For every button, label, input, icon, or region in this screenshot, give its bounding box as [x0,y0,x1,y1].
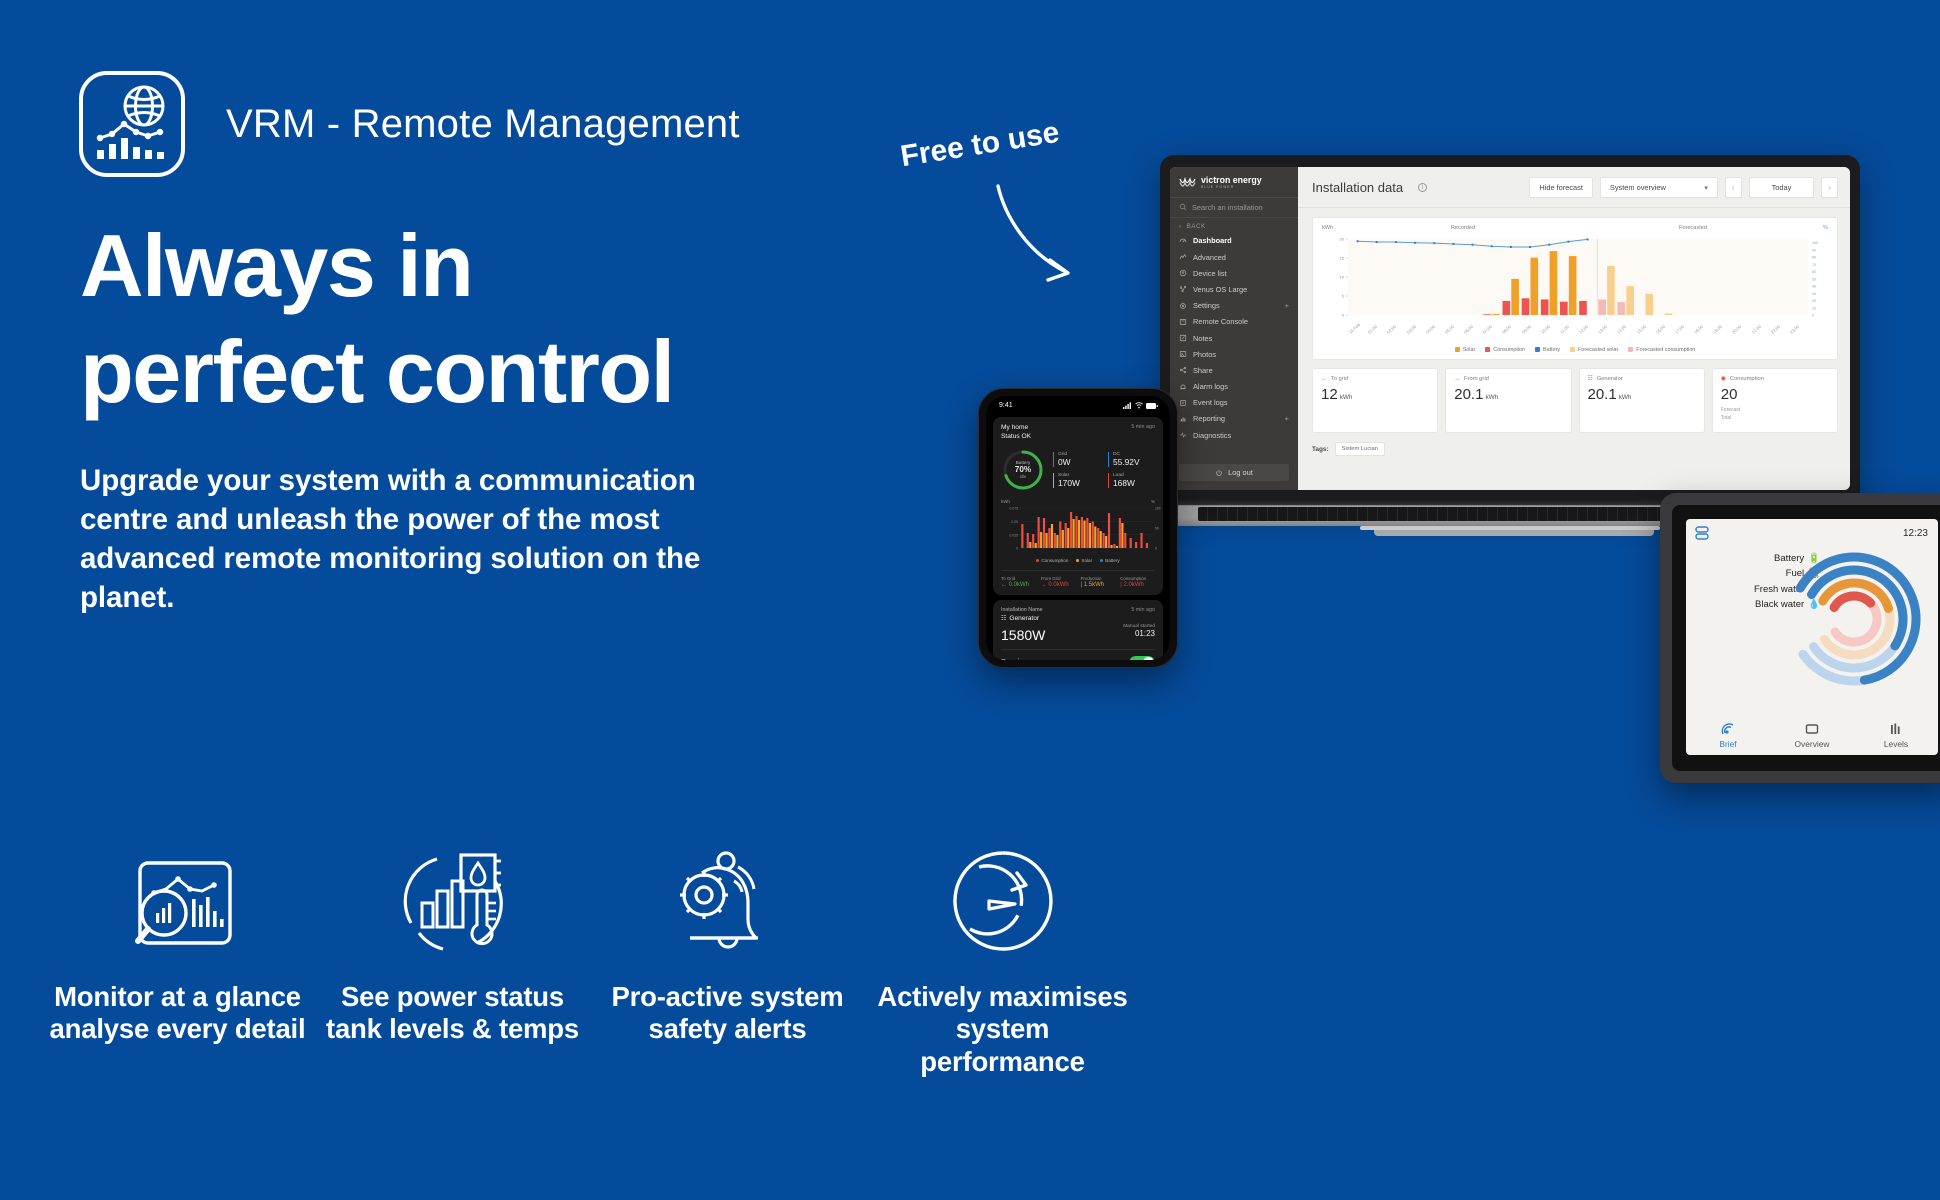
search-placeholder: Search an installation [1192,203,1263,212]
consumption-icon: ◉ [1721,376,1726,382]
kpi-value: 0W [1058,457,1100,467]
signal-icon [1123,402,1132,409]
tablet-bezel: 12:23 Battery🔋 Fuel⛽ Fresh water💧 Black … [1672,505,1940,771]
installation-name-label: Installation Name [1001,607,1043,614]
generator-icon: ☷ [1001,615,1006,623]
total-key: To Grid [1001,576,1036,581]
notes-icon [1179,334,1187,342]
feature-list: Monitor at a glance analyse every detail [40,845,1140,1078]
sidebar-item-dashboard[interactable]: Dashboard [1170,233,1298,249]
victron-logo-sub: BLUE POWER [1201,185,1262,189]
system-overview-value: System overview [1610,183,1666,192]
sidebar-label: Settings [1193,301,1220,310]
total-key: Production [1081,576,1116,581]
today-button[interactable]: Today [1749,177,1815,198]
brief-icon [1686,721,1770,737]
svg-text:100: 100 [1812,241,1818,245]
logout-button[interactable]: Log out [1179,464,1289,481]
alarm-icon [1179,383,1187,391]
chart-x-axis-labels: 16 Feb01:0002:0003:0004:0005:0006:0007:0… [1348,331,1808,336]
tab-label: Brief [1719,739,1736,749]
tank-thermometer-icon [321,845,584,965]
tablet-screen: 12:23 Battery🔋 Fuel⛽ Fresh water💧 Black … [1686,519,1938,755]
feature-label: Monitor at a glance analyse every detail [46,981,309,1046]
vrm-toolbar: Installation data i Hide forecast System… [1298,167,1850,208]
toggle-knob [1143,657,1154,660]
chevron-left-icon: ‹ [1179,224,1182,230]
remote-console-icon [1179,318,1187,326]
sidebar-label: Device list [1193,269,1227,278]
svg-text:20: 20 [1812,299,1816,303]
svg-text:30: 30 [1812,292,1816,296]
chevron-down-icon: ▾ [1704,184,1708,192]
sidebar-item-reporting[interactable]: Reporting + [1170,411,1298,427]
device-mockups: victron energy BLUE POWER Search an inst… [0,0,1940,840]
kpi-dc: DC 55.92V [1108,452,1155,467]
vrm-main-panel: Installation data i Hide forecast System… [1298,167,1850,490]
feature-safety-alerts: Pro-active system safety alerts [590,845,865,1078]
battery-ring-gauge: Battery 70% Idle [1001,448,1045,492]
svg-text:15: 15 [1340,256,1345,261]
logout-label: Log out [1228,468,1253,477]
svg-text:0.075: 0.075 [1010,506,1019,510]
tablet-time: 12:23 [1903,528,1928,539]
legend-item: Forecasted consumption [1628,347,1695,353]
sidebar-label: Notes [1193,334,1212,343]
svg-text:0.05: 0.05 [1011,520,1018,524]
svg-text:70: 70 [1812,263,1816,267]
tab-brief[interactable]: Brief [1686,721,1770,749]
installation-data-title: Installation data [1312,180,1403,195]
card-title: Generator [1597,376,1623,382]
sidebar-label: Event logs [1193,398,1228,407]
victron-mark-icon [1179,177,1197,188]
feature-label: Actively maximises system performance [871,981,1134,1078]
levels-icon [1854,721,1938,737]
arrow-right-icon: → [1454,376,1460,382]
tablet-mockup: 12:23 Battery🔋 Fuel⛽ Fresh water💧 Black … [1660,493,1940,783]
power-icon [1215,469,1223,477]
svg-text:0.025: 0.025 [1010,533,1019,537]
sidebar-item-settings[interactable]: Settings + [1170,298,1298,314]
sidebar-label: Share [1193,366,1213,375]
ring-state: Idle [1020,474,1027,479]
kpi-grid: Grid 0W [1053,452,1100,467]
sidebar-item-advanced[interactable]: Advanced [1170,249,1298,265]
svg-text:10: 10 [1340,275,1345,280]
svg-text:80: 80 [1812,256,1816,260]
kpi-solar: Solar 170W [1053,473,1100,488]
svg-text:5: 5 [1342,294,1345,299]
total-value: → 0.0kWh [1041,582,1076,588]
generator-power: 1580W [1001,627,1045,643]
sidebar-expand-icon[interactable]: + [1285,301,1289,310]
sidebar-item-share[interactable]: Share [1170,362,1298,378]
gear-icon [1179,302,1187,310]
tanks-icon [1695,525,1709,541]
tab-levels[interactable]: Levels [1854,721,1938,749]
info-icon[interactable]: i [1418,183,1427,192]
back-label: BACK [1187,224,1206,230]
search-installation-input[interactable]: Search an installation [1170,197,1298,218]
manual-started-time: 01:23 [1123,629,1155,638]
legend-item: Forecasted solar [1570,347,1618,353]
installation-chart-card: kWh Recorded Forecasted % 05101520010203… [1312,217,1838,360]
tablet-levels-gauge: Battery🔋 Fuel⛽ Fresh water💧 Black water💧 [1686,541,1938,691]
my-home-card: My home Status OK 5 min ago Battery 70% [993,417,1163,595]
battery-icon [1146,403,1158,409]
svg-text:40: 40 [1812,285,1816,289]
legend-item: Battery [1535,347,1560,353]
total-from-grid: From Grid→ 0.0kWh [1041,576,1076,588]
summary-cards: ← To grid 12kWh → From grid 20.1kWh ☷ Ge… [1312,368,1838,433]
card-value: 12 [1321,386,1338,403]
card-unit: kWh [1619,394,1632,401]
total-value: ← 0.0kWh [1001,582,1036,588]
card-value: 20.1 [1454,386,1483,403]
phone-screen: 9:41 My home Status OK 5 min ago [986,396,1170,660]
total-key: From Grid [1041,576,1076,581]
sidebar-expand-icon[interactable]: + [1285,414,1289,423]
sidebar-item-event-logs[interactable]: Event logs [1170,395,1298,411]
laptop-lid-notch [1360,526,1660,530]
feature-maximises-performance: Actively maximises system performance [865,845,1140,1078]
card-sub-forecast: Forecast [1721,407,1829,415]
generator-state-label: Running [1001,659,1027,660]
phone-mockup: 9:41 My home Status OK 5 min ago [978,388,1178,668]
svg-text:50: 50 [1155,526,1159,530]
phone-totals: To Grid← 0.0kWh From Grid→ 0.0kWh Produc… [1001,570,1155,588]
sidebar-label: Diagnostics [1193,431,1231,440]
total-value: | 2.0kWh [1120,582,1155,588]
legend-item: Solar [1455,347,1476,353]
sidebar-item-remote-console[interactable]: Remote Console [1170,314,1298,330]
victron-logo-text: victron energy [1201,176,1262,185]
legend-item: Consumption [1485,347,1525,353]
phone-legend-item: Consumption [1036,558,1068,563]
bell-gear-icon [596,845,859,965]
vrm-sidebar: victron energy BLUE POWER Search an inst… [1170,167,1298,490]
event-icon [1179,399,1187,407]
feature-label: Pro-active system safety alerts [596,981,859,1046]
status-time: 9:41 [999,402,1013,409]
home-updated-ago: 5 min ago [1131,424,1155,430]
phone-bar-chart: kWh % 0.0750.050.0250100500 ConsumptionS… [1001,499,1155,563]
svg-text:60: 60 [1812,270,1816,274]
victron-logo: victron energy BLUE POWER [1170,167,1298,197]
laptop-camera-notch [1467,155,1553,167]
analytics-magnifier-icon [46,845,309,965]
prev-day-button[interactable]: ‹ [1725,177,1742,198]
generator-card: Installation Name ☷ Generator 5 min ago … [993,600,1163,660]
svg-text:0: 0 [1812,314,1814,318]
card-title: From grid [1464,376,1489,382]
svg-text:0: 0 [1155,546,1157,550]
tags-label: Tags: [1312,446,1329,453]
advanced-icon [1179,253,1187,261]
tab-label: Overview [1795,739,1830,749]
sidebar-item-venus-os-large[interactable]: Venus OS Large [1170,281,1298,297]
arrow-left-icon: ← [1321,376,1327,382]
chart-legend: SolarConsumptionBatteryForecasted solarF… [1322,347,1828,353]
chart-unit-left: kWh [1322,225,1348,231]
phone-legend-item: Battery [1100,558,1120,563]
svg-text:0: 0 [1016,546,1018,550]
share-icon [1179,366,1187,374]
search-icon [1179,203,1187,211]
svg-text:50: 50 [1812,277,1816,281]
card-unit: kWh [1485,394,1498,401]
next-day-button[interactable]: › [1821,177,1838,198]
generator-name: Generator [1009,615,1039,624]
card-from-grid: → From grid 20.1kWh [1445,368,1571,433]
overview-icon [1770,721,1854,737]
svg-text:90: 90 [1812,248,1816,252]
home-status: Status OK [1001,433,1031,442]
device-list-icon [1179,269,1187,277]
photos-icon [1179,350,1187,358]
chart-recorded-label: Recorded [1348,225,1578,231]
sidebar-label: Dashboard [1193,236,1232,245]
total-consumption: Consumption| 2.0kWh [1120,576,1155,588]
sidebar-item-notes[interactable]: Notes [1170,330,1298,346]
sidebar-label: Advanced [1193,253,1226,262]
sidebar-item-alarm-logs[interactable]: Alarm logs [1170,378,1298,394]
phone-legend-item: Solar [1076,558,1092,563]
card-generator: ☷ Generator 20.1kWh [1579,368,1705,433]
sidebar-item-diagnostics[interactable]: Diagnostics [1170,427,1298,443]
hide-forecast-button[interactable]: Hide forecast [1529,177,1593,198]
total-to-grid: To Grid← 0.0kWh [1001,576,1036,588]
card-value: 20.1 [1588,386,1617,403]
system-overview-select[interactable]: System overview ▾ [1600,177,1718,198]
total-production: Production| 1.5kWh [1081,576,1116,588]
svg-text:100: 100 [1155,506,1161,510]
card-consumption: ◉ Consumption 20 Forecast Total [1712,368,1838,433]
total-value: | 1.5kWh [1081,582,1116,588]
sidebar-label: Photos [1193,350,1216,359]
feature-monitor-at-a-glance: Monitor at a glance analyse every detail [40,845,315,1078]
svg-text:10: 10 [1812,306,1816,310]
sidebar-label: Venus OS Large [1193,285,1247,294]
diagnostics-icon [1179,431,1187,439]
tablet-bottom-nav: Brief Overview Levels [1686,721,1938,749]
phone-chart-unit-right: % [1151,499,1155,504]
sidebar-label: Remote Console [1193,317,1248,326]
card-sub-total: Total [1721,415,1829,423]
reporting-icon [1179,415,1187,423]
svg-text:20: 20 [1340,237,1345,242]
kpi-value: 170W [1058,478,1100,488]
vrm-dashboard-screen: victron energy BLUE POWER Search an inst… [1170,167,1850,490]
sidebar-label: Alarm logs [1193,382,1228,391]
sidebar-item-photos[interactable]: Photos [1170,346,1298,362]
card-title: To grid [1331,376,1348,382]
tag-chip[interactable]: Sistem Lucian [1335,442,1385,456]
sidebar-back-link[interactable]: ‹ BACK [1170,218,1298,233]
tab-overview[interactable]: Overview [1770,721,1854,749]
kpi-load: Load 168W [1108,473,1155,488]
feature-power-status: See power status tank levels & temps [315,845,590,1078]
chart-header: kWh Recorded Forecasted % [1322,225,1828,231]
card-to-grid: ← To grid 12kWh [1312,368,1438,433]
tablet-status-bar: 12:23 [1686,519,1938,541]
tab-label: Levels [1884,739,1908,749]
chart-unit-right: % [1808,225,1828,231]
phone-notch [1046,400,1110,412]
card-value: 20 [1721,386,1738,403]
generator-updated-ago: 5 min ago [1131,607,1155,613]
generator-icon: ☷ [1588,376,1593,382]
sidebar-item-device-list[interactable]: Device list [1170,265,1298,281]
kpi-value: 168W [1113,478,1155,488]
card-title: Consumption [1730,376,1764,382]
card-unit: kWh [1340,394,1353,401]
wifi-icon [1135,402,1143,409]
total-key: Consumption [1120,576,1155,581]
generator-toggle[interactable] [1129,656,1155,660]
chart-forecasted-label: Forecasted [1578,225,1808,231]
installation-chart-plot: 051015200102030405060708090100 [1322,233,1828,329]
tags-row: Tags: Sistem Lucian [1312,442,1838,456]
home-title: My home [1001,424,1031,433]
gauge-refresh-icon [871,845,1134,965]
sidebar-label: Reporting [1193,414,1225,423]
ring-value: 70% [1015,465,1031,474]
feature-label: See power status tank levels & temps [321,981,584,1046]
venus-os-icon [1179,285,1187,293]
svg-text:0: 0 [1342,313,1345,318]
kpi-value: 55.92V [1113,457,1155,467]
dashboard-icon [1179,237,1187,245]
phone-chart-unit-left: kWh [1001,499,1010,504]
laptop-lid: victron energy BLUE POWER Search an inst… [1160,155,1860,500]
